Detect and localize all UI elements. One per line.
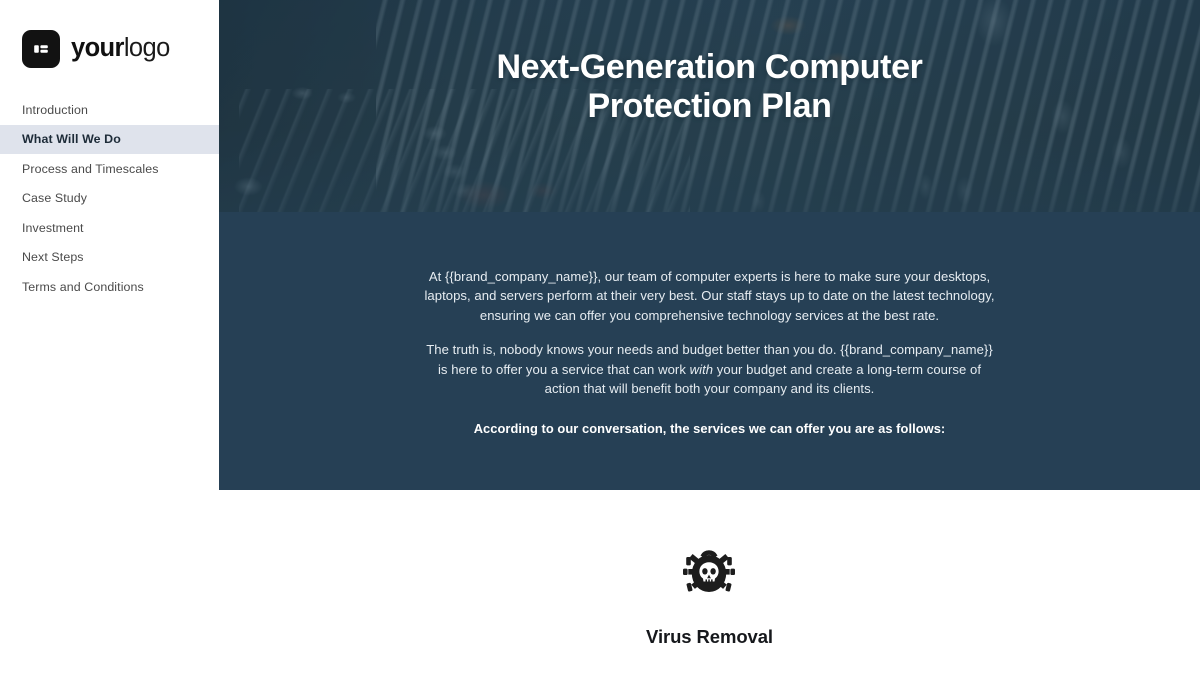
intro-paragraph-2-emphasis: with [690,362,714,377]
page-title-line-1: Next-Generation Computer [496,48,922,86]
intro-dark-panel: Next-Generation Computer Protection Plan… [219,0,1200,490]
sidebar-item-case-study[interactable]: Case Study [0,184,219,214]
sidebar-item-terms-and-conditions[interactable]: Terms and Conditions [0,272,219,302]
layout-panels-icon [22,30,60,68]
wordmark-bold: your [71,34,124,62]
proposal-page: yourlogo Introduction What Will We Do Pr… [0,0,1200,684]
sidebar-item-introduction[interactable]: Introduction [0,95,219,125]
page-title: Next-Generation Computer Protection Plan [219,48,1200,127]
proposal-content: Next-Generation Computer Protection Plan… [219,0,1200,684]
intro-paragraph-1: At {{brand_company_name}}, our team of c… [424,267,996,325]
wordmark-light: logo [124,34,170,62]
service-card-virus-removal: Virus Removal [646,542,773,648]
sidebar-navigation: yourlogo Introduction What Will We Do Pr… [0,0,219,684]
page-title-line-2: Protection Plan [587,87,831,125]
intro-paragraph-2: The truth is, nobody knows your needs an… [424,340,996,398]
sidebar-item-next-steps[interactable]: Next Steps [0,243,219,273]
virus-bug-skull-icon [679,542,739,598]
brand-logo[interactable]: yourlogo [0,0,219,72]
section-nav-list: Introduction What Will We Do Process and… [0,95,219,302]
sidebar-item-what-will-we-do[interactable]: What Will We Do [0,125,219,155]
brand-wordmark: yourlogo [71,36,170,62]
services-call-to-action: According to our conversation, the servi… [424,419,996,438]
services-list: Virus Removal [219,490,1200,684]
service-title: Virus Removal [646,626,773,648]
intro-copy: At {{brand_company_name}}, our team of c… [219,212,1200,438]
sidebar-item-investment[interactable]: Investment [0,213,219,243]
hero-banner: Next-Generation Computer Protection Plan [219,0,1200,212]
sidebar-item-process-and-timescales[interactable]: Process and Timescales [0,154,219,184]
